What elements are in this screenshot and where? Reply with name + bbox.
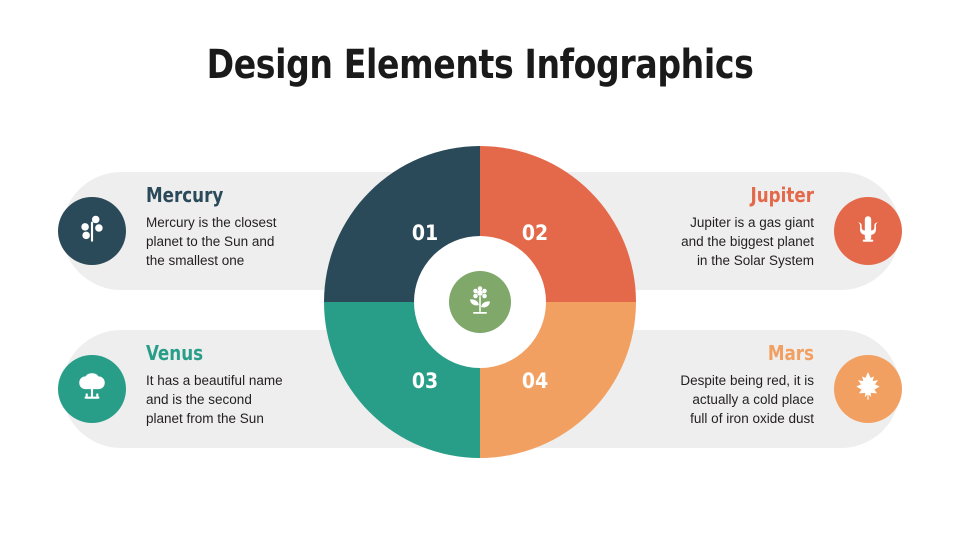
jupiter-icon-badge[interactable] [834,197,902,265]
infographic-slide: Design Elements Infographics Mercury Mer… [0,0,960,540]
mercury-icon-badge[interactable] [58,197,126,265]
donut-label-03: 03 [412,369,438,393]
mercury-title: Mercury [146,184,332,206]
venus-panel: Venus It has a beautiful name and is the… [146,342,346,428]
mars-icon-badge[interactable] [834,355,902,423]
flower-icon [464,286,496,318]
maple-leaf-icon [851,370,885,409]
cactus-icon [851,212,885,251]
mercury-body: Mercury is the closest planet to the Sun… [146,213,346,270]
mars-title: Mars [614,342,814,364]
jupiter-title: Jupiter [614,184,814,206]
mercury-panel: Mercury Mercury is the closest planet to… [146,184,346,270]
sprout-icon [75,212,109,251]
venus-title: Venus [146,342,332,364]
donut-label-02: 02 [522,221,548,245]
donut-label-01: 01 [412,221,438,245]
page-title: Design Elements Infographics [38,42,921,88]
donut-label-04: 04 [522,369,548,393]
donut-chart: 01 02 03 04 [320,142,640,462]
tree-icon [75,370,109,409]
donut-center-badge[interactable] [449,271,511,333]
venus-body: It has a beautiful name and is the secon… [146,371,346,428]
venus-icon-badge[interactable] [58,355,126,423]
